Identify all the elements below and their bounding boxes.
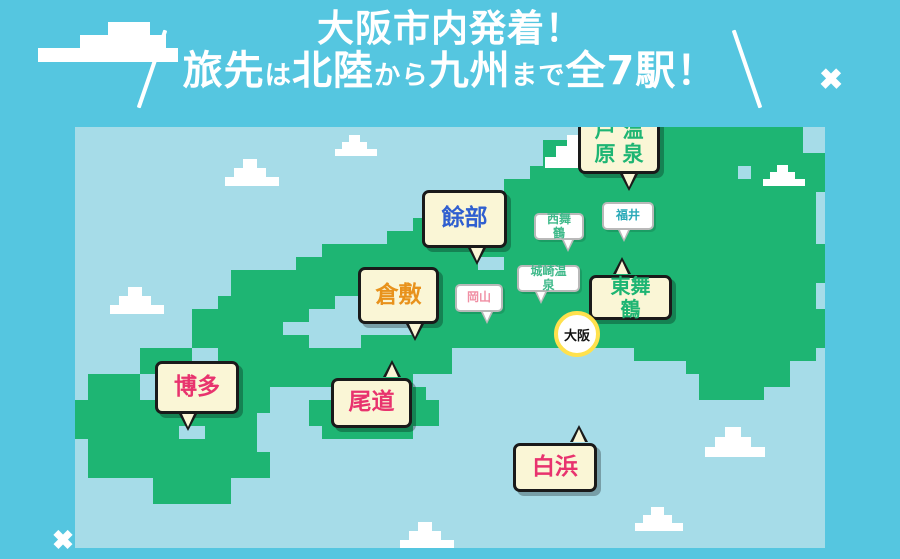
map-cloud bbox=[635, 507, 683, 531]
map-cloud bbox=[705, 427, 765, 457]
balloon-label: 尾道 bbox=[349, 390, 395, 416]
city-balloon-label: 福井 bbox=[616, 209, 640, 222]
origin-marker-label: 大阪 bbox=[564, 325, 590, 344]
balloon-tail-onomichi bbox=[383, 360, 401, 377]
city-balloon-label: 西舞鶴 bbox=[543, 213, 575, 240]
city-balloon-tail-kinosaki-onsen bbox=[535, 292, 547, 304]
title-part-4: 九州 bbox=[429, 48, 511, 94]
title-part-3: から bbox=[374, 60, 429, 91]
infographic-root: 大阪市内発着！ 旅先は北陸から九州まで全7駅！ 芦原温泉餘部東舞鶴倉敷博多尾道白… bbox=[0, 0, 900, 559]
balloon-label-line2: 温泉 bbox=[619, 127, 647, 167]
balloon-label-line1: 芦原 bbox=[591, 127, 619, 167]
balloon-label: 博多 bbox=[174, 375, 220, 401]
city-balloon-kinosaki-onsen[interactable]: 城崎温泉 bbox=[517, 265, 580, 292]
city-balloon-label: 城崎温泉 bbox=[526, 265, 571, 292]
station-balloon-amarube[interactable]: 餘部 bbox=[422, 190, 507, 248]
city-balloon-nishi-maizuru[interactable]: 西舞鶴 bbox=[534, 213, 584, 240]
origin-marker-osaka[interactable]: 大阪 bbox=[554, 311, 600, 357]
title-part-5: まで bbox=[511, 60, 566, 91]
title-part-6: 全7駅！ bbox=[566, 48, 718, 94]
balloon-label: 東舞鶴 bbox=[602, 275, 659, 320]
balloon-tail-hakata bbox=[179, 414, 197, 431]
station-balloon-shirahama[interactable]: 白浜 bbox=[513, 443, 597, 492]
map-cloud bbox=[335, 135, 377, 156]
balloon-tail-amarube bbox=[468, 248, 486, 265]
balloon-label: 倉敷 bbox=[376, 283, 422, 309]
station-balloon-hakata[interactable]: 博多 bbox=[155, 361, 239, 414]
city-balloon-okayama[interactable]: 岡山 bbox=[455, 284, 503, 312]
station-balloon-awara-onsen[interactable]: 芦原温泉 bbox=[578, 127, 660, 174]
title-part-1: は bbox=[265, 60, 292, 91]
sparkle-bottom-left-icon bbox=[53, 529, 73, 549]
balloon-tail-shirahama bbox=[570, 425, 588, 442]
city-balloon-label: 岡山 bbox=[467, 291, 491, 304]
balloon-label: 白浜 bbox=[532, 455, 578, 481]
title-line-1: 大阪市内発着！ bbox=[0, 8, 900, 49]
title-part-0: 旅先 bbox=[183, 48, 265, 94]
balloon-label: 餘部 bbox=[442, 206, 488, 232]
sparkle-top-right-icon bbox=[820, 68, 842, 90]
station-balloon-onomichi[interactable]: 尾道 bbox=[331, 378, 412, 428]
balloon-tail-higashi-maizuru bbox=[613, 257, 631, 274]
map-cloud bbox=[763, 165, 805, 186]
title-block: 大阪市内発着！ 旅先は北陸から九州まで全7駅！ bbox=[0, 8, 900, 94]
city-balloon-tail-okayama bbox=[481, 312, 493, 324]
map-cloud bbox=[110, 287, 164, 314]
station-balloon-higashi-maizuru[interactable]: 東舞鶴 bbox=[589, 275, 672, 320]
city-balloon-fukui[interactable]: 福井 bbox=[602, 202, 654, 230]
map-panel: 芦原温泉餘部東舞鶴倉敷博多尾道白浜福井西舞鶴城崎温泉岡山大阪 bbox=[75, 127, 825, 548]
station-balloon-kurashiki[interactable]: 倉敷 bbox=[358, 267, 439, 324]
map-cloud bbox=[225, 159, 279, 186]
title-part-2: 北陸 bbox=[292, 48, 374, 94]
city-balloon-tail-nishi-maizuru bbox=[562, 240, 574, 252]
balloon-tail-awara-onsen bbox=[620, 174, 638, 191]
map-cloud bbox=[400, 522, 454, 548]
balloon-tail-kurashiki bbox=[406, 324, 424, 341]
title-line-2: 旅先は北陸から九州まで全7駅！ bbox=[0, 49, 900, 94]
city-balloon-tail-fukui bbox=[618, 230, 630, 242]
